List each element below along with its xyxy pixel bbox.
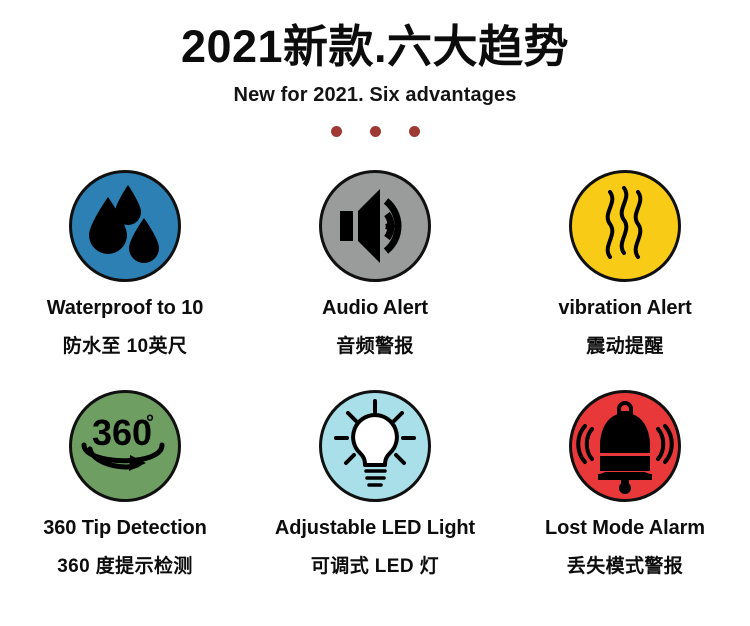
feature-label-en: Waterproof to 10 (47, 297, 204, 320)
alarm-bell-icon-badge (569, 390, 681, 502)
dot-icon (409, 126, 420, 137)
dot-icon (331, 126, 342, 137)
rotation-360-icon-degree: ° (146, 412, 154, 434)
rotation-360-icon: 360 ° (72, 393, 178, 499)
feature-item-360-tip-detection: 360 ° 360 Tip Detection 360 度提示检测 (0, 390, 250, 610)
feature-label-zh: 音频警报 (336, 331, 414, 358)
feature-label-en: Adjustable LED Light (275, 517, 475, 540)
feature-item-audio-alert: Audio Alert 音频警报 (250, 170, 500, 390)
feature-label-zh: 丢失模式警报 (567, 551, 683, 578)
feature-label-zh: 可调式 LED 灯 (311, 551, 439, 578)
feature-item-vibration-alert: vibration Alert 震动提醒 (500, 170, 750, 390)
feature-grid: Waterproof to 10 防水至 10英尺 Audio Alert 音频… (0, 170, 750, 610)
water-drops-icon (72, 173, 178, 279)
feature-item-led-light: Adjustable LED Light 可调式 LED 灯 (250, 390, 500, 610)
light-bulb-icon (322, 393, 428, 499)
feature-label-en: 360 Tip Detection (43, 517, 207, 540)
rotation-360-icon-badge: 360 ° (69, 390, 181, 502)
feature-label-en: Audio Alert (322, 297, 428, 320)
feature-item-waterproof: Waterproof to 10 防水至 10英尺 (0, 170, 250, 390)
feature-label-zh: 360 度提示检测 (57, 551, 193, 578)
infographic-page: 2021新款.六大趋势 New for 2021. Six advantages… (0, 0, 750, 626)
dot-icon (370, 126, 381, 137)
feature-item-lost-mode-alarm: Lost Mode Alarm 丢失模式警报 (500, 390, 750, 610)
header: 2021新款.六大趋势 New for 2021. Six advantages (0, 0, 750, 137)
decorative-dots (0, 126, 750, 137)
feature-label-en: Lost Mode Alarm (545, 517, 705, 540)
speaker-sound-icon (322, 173, 428, 279)
water-drops-icon-badge (69, 170, 181, 282)
feature-label-zh: 防水至 10英尺 (63, 331, 188, 358)
feature-label-zh: 震动提醒 (586, 331, 664, 358)
page-title: 2021新款.六大趋势 (0, 22, 750, 72)
rotation-360-icon-text: 360 (92, 412, 152, 453)
vibration-waves-icon (572, 173, 678, 279)
light-bulb-icon-badge (319, 390, 431, 502)
page-subtitle: New for 2021. Six advantages (0, 84, 750, 107)
speaker-sound-icon-badge (319, 170, 431, 282)
alarm-bell-icon (572, 393, 678, 499)
feature-label-en: vibration Alert (558, 297, 691, 320)
vibration-waves-icon-badge (569, 170, 681, 282)
